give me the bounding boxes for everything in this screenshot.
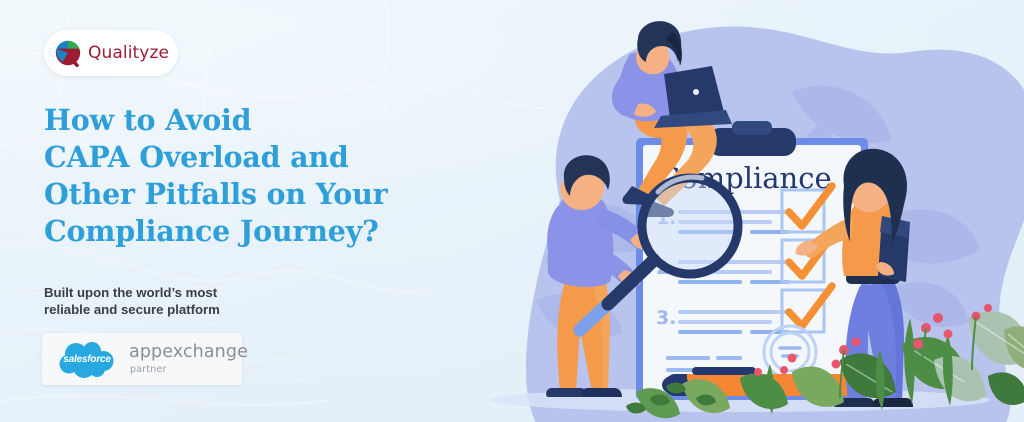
headline-line-3: Other Pitfalls on Your [44, 176, 444, 213]
svg-text:3.: 3. [656, 307, 676, 329]
brand-name: Qualityze [88, 43, 169, 63]
page-title: How to Avoid CAPA Overload and Other Pit… [44, 102, 444, 250]
subheadline-line-1: Built upon the world’s most [44, 284, 274, 301]
promo-banner: Qualityze How to Avoid CAPA Overload and… [0, 0, 1024, 422]
salesforce-cloud-icon: salesforce [56, 339, 118, 379]
banner-left-column: Qualityze How to Avoid CAPA Overload and… [0, 0, 470, 422]
subheadline-line-2: reliable and secure platform [44, 301, 274, 318]
appexchange-label: appexchange [129, 344, 248, 362]
compliance-checklist-illustration: Compliance 1. [440, 0, 1024, 422]
subheadline: Built upon the world’s most reliable and… [44, 284, 274, 318]
salesforce-appexchange-badge[interactable]: salesforce appexchange partner [42, 333, 242, 385]
partner-label: partner [130, 365, 248, 375]
headline-line-1: How to Avoid [44, 102, 444, 139]
magnifier-pie-logo-icon [54, 39, 82, 67]
headline-line-2: CAPA Overload and [44, 139, 444, 176]
salesforce-wordmark: salesforce [56, 339, 118, 379]
brand-logo[interactable]: Qualityze [44, 30, 178, 76]
headline-line-4: Compliance Journey? [44, 213, 444, 250]
